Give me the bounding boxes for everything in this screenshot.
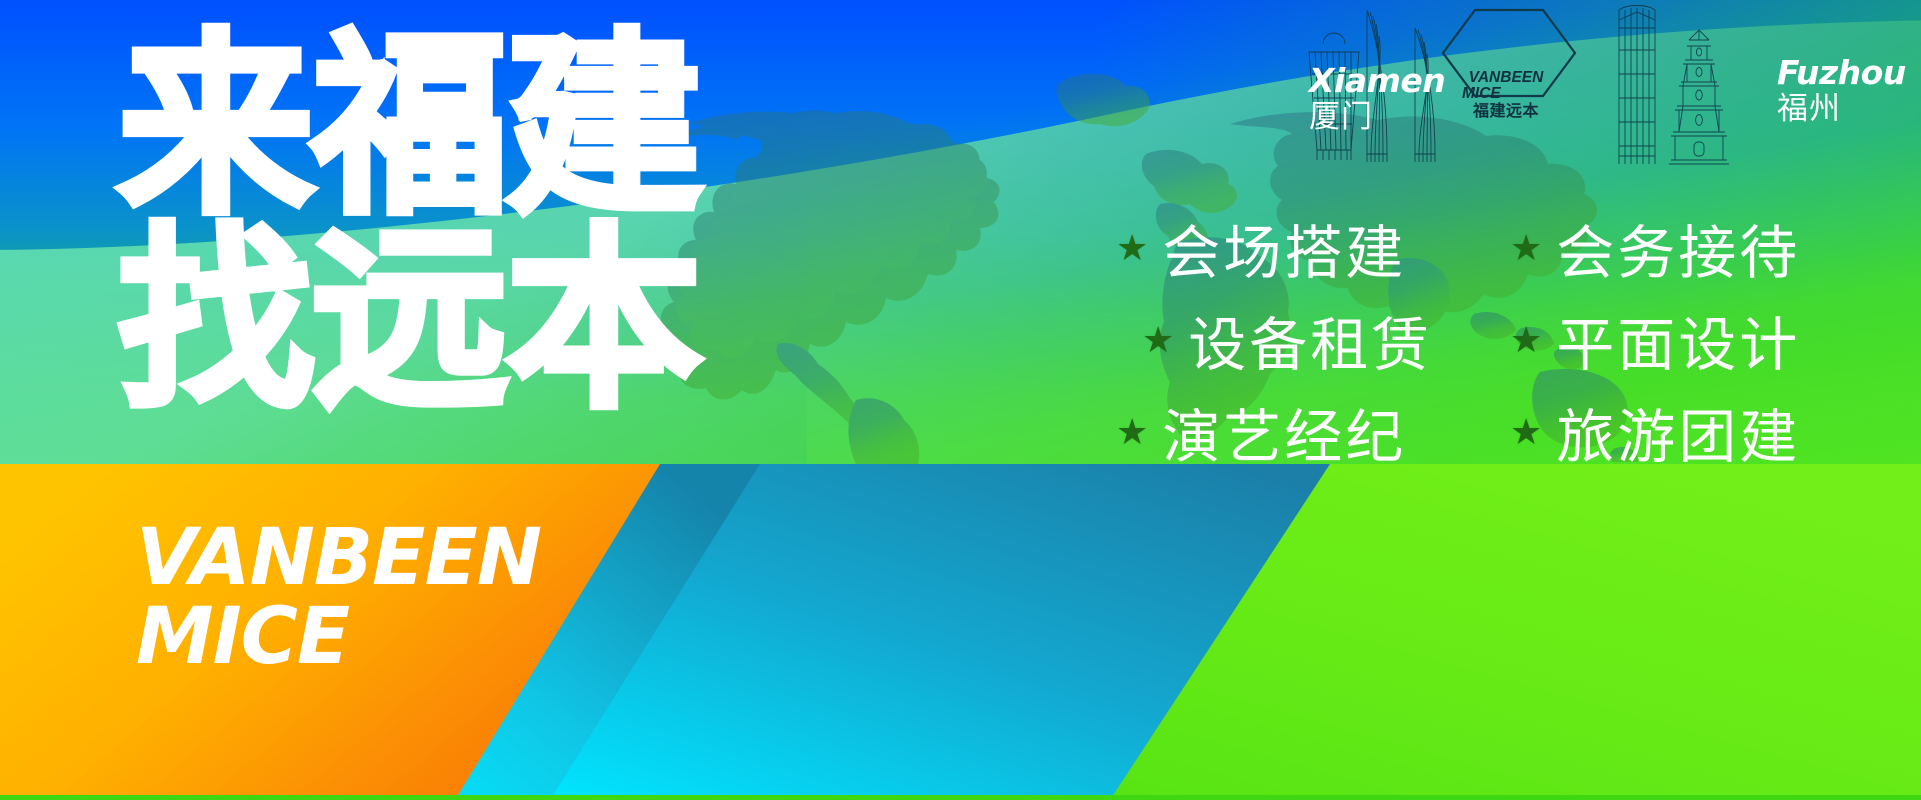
brand-line-2: MICE (136, 600, 541, 675)
service-item: ★ 会场搭建 (1110, 206, 1510, 290)
service-label: 演艺经纪 (1162, 390, 1406, 464)
service-label: 平面设计 (1556, 298, 1800, 382)
promotional-banner: 来福建 找远本 ★ 会场搭建 ★ 会务接待 ★ 设备租赁 ★ 平面设计 ★ (0, 0, 1921, 800)
hex-badge-line-1: VANBEEN (1469, 70, 1544, 86)
page-title: 来福建 找远本 (118, 30, 700, 418)
bottom-brand-bar: VANBEEN MICE (0, 464, 1921, 800)
service-item: ★ 会务接待 (1510, 206, 1910, 290)
city-name-en: Xiamen (1309, 64, 1445, 97)
brand-wordmark: VANBEEN MICE (136, 521, 541, 675)
headline-line-1: 来福建 (118, 30, 700, 224)
hex-badge-line-3: 福建远本 (1473, 102, 1539, 122)
city-label-fuzhou: Fuzhou 福州 (1777, 56, 1906, 128)
star-icon: ★ (1116, 230, 1148, 266)
city-name-cn: 福州 (1777, 92, 1906, 128)
hex-badge-line-2: MICE (1462, 86, 1501, 102)
service-item: ★ 演艺经纪 (1110, 390, 1510, 464)
service-item: ★ 旅游团建 (1510, 390, 1910, 464)
star-icon: ★ (1510, 230, 1542, 266)
star-icon: ★ (1142, 322, 1174, 358)
fuzhou-modern-tower-icon (1619, 6, 1655, 165)
city-name-cn: 厦门 (1309, 100, 1445, 136)
service-label: 旅游团建 (1556, 390, 1800, 464)
service-label: 会场搭建 (1162, 206, 1406, 290)
city-logo-cluster: Xiamen 厦门 VANBEEN MICE 福建远本 Fuzhou 福州 (1251, 2, 1921, 177)
service-item: ★ 设备租赁 (1110, 298, 1510, 382)
service-item: ★ 平面设计 (1510, 298, 1910, 382)
fuzhou-pagoda-icon (1669, 30, 1729, 164)
star-icon: ★ (1116, 414, 1148, 450)
main-panel: 来福建 找远本 ★ 会场搭建 ★ 会务接待 ★ 设备租赁 ★ 平面设计 ★ (0, 0, 1921, 464)
brand-line-1: VANBEEN (136, 521, 541, 596)
star-icon: ★ (1510, 414, 1542, 450)
service-list: ★ 会场搭建 ★ 会务接待 ★ 设备租赁 ★ 平面设计 ★ 演艺经纪 ★ 旅游团… (1110, 206, 1910, 464)
star-icon: ★ (1510, 322, 1542, 358)
city-name-en: Fuzhou (1777, 56, 1906, 89)
city-label-xiamen: Xiamen 厦门 (1309, 64, 1445, 136)
service-label: 设备租赁 (1188, 298, 1432, 382)
headline-line-2: 找远本 (118, 224, 700, 418)
vanbeen-hex-badge: VANBEEN MICE 福建远本 (1446, 56, 1566, 136)
service-label: 会务接待 (1556, 206, 1800, 290)
